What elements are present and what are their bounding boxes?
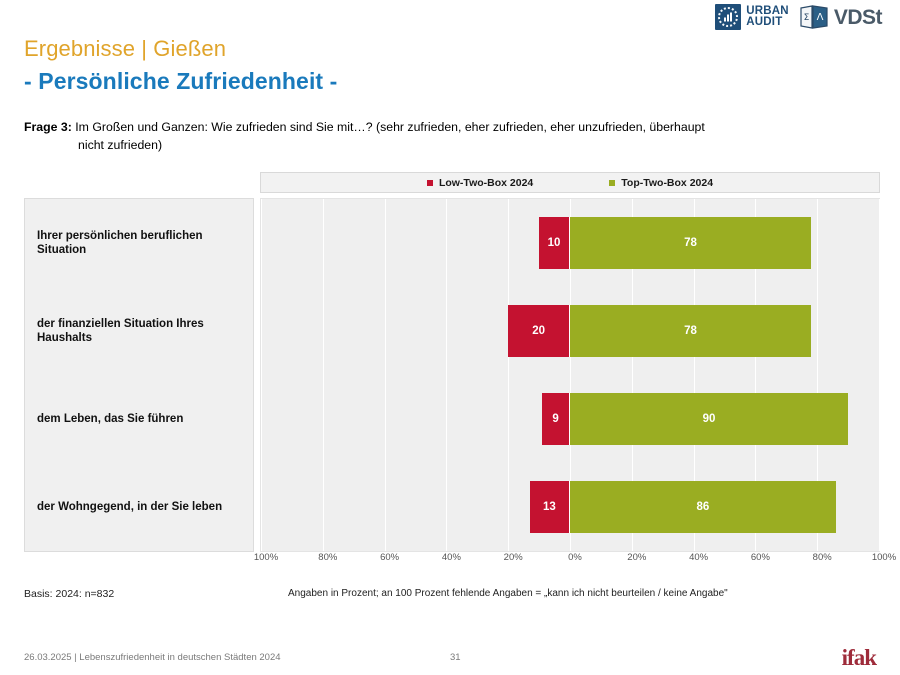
axis-tick-label: 80%	[318, 552, 337, 563]
axis-tick-label: 60%	[380, 552, 399, 563]
axis-tick-label: 20%	[504, 552, 523, 563]
question-label: Frage 3:	[24, 120, 72, 134]
category-label-3: der Wohngegend, in der Sie leben	[25, 463, 253, 551]
legend-label-top: Top-Two-Box 2024	[621, 177, 713, 189]
axis-tick-label: 0%	[568, 552, 582, 563]
eu-stars-chart-icon	[715, 4, 741, 30]
legend-swatch-top	[609, 180, 615, 186]
slide-main-title: - Persönliche Zufriedenheit -	[24, 68, 337, 95]
bar-top-two-box: 78	[570, 217, 811, 269]
axis-tick-label: 100%	[254, 552, 278, 563]
footer-source: 26.03.2025 | Lebenszufriedenheit in deut…	[24, 652, 281, 663]
legend-label-low: Low-Two-Box 2024	[439, 177, 533, 189]
bar-row: 1078	[261, 199, 879, 287]
axis-tick-label: 80%	[813, 552, 832, 563]
axis-tick-label: 40%	[442, 552, 461, 563]
bar-row: 2078	[261, 287, 879, 375]
ifak-logo: ifak	[842, 645, 876, 671]
bar-top-two-box: 78	[570, 305, 811, 357]
plot-wrapper: Ihrer persönlichen beruflichen Situation…	[24, 198, 880, 552]
question-text: Im Großen und Ganzen: Wie zufrieden sind…	[72, 120, 705, 134]
bar-row: 1386	[261, 463, 879, 551]
svg-text:Λ: Λ	[816, 12, 823, 23]
legend-item-top-two-box: Top-Two-Box 2024	[609, 177, 713, 189]
bar-top-two-box: 86	[570, 481, 836, 533]
urban-audit-logo: URBAN AUDIT	[715, 4, 789, 30]
category-label-1: der finanziellen Situation Ihres Haushal…	[25, 287, 253, 375]
vdst-cube-icon: Σ Λ	[799, 4, 829, 30]
axis-tick-label: 40%	[689, 552, 708, 563]
category-label-0: Ihrer persönlichen beruflichen Situation	[25, 199, 253, 287]
legend-swatch-low	[427, 180, 433, 186]
svg-text:Σ: Σ	[803, 13, 809, 23]
bar-low-two-box: 10	[539, 217, 570, 269]
chart-legend: Low-Two-Box 2024 Top-Two-Box 2024	[260, 172, 880, 193]
axis-tick-label: 20%	[627, 552, 646, 563]
gridline	[879, 199, 880, 551]
vdst-logo: Σ Λ VDSt	[799, 4, 882, 30]
bar-row: 990	[261, 375, 879, 463]
axis-tick-label: 100%	[872, 552, 896, 563]
slide-kicker-title: Ergebnisse | Gießen	[24, 36, 226, 62]
percent-footnote: Angaben in Prozent; an 100 Prozent fehle…	[288, 588, 728, 599]
legend-item-low-two-box: Low-Two-Box 2024	[427, 177, 533, 189]
x-axis: 100%80%60%40%20%0%20%40%60%80%100%	[260, 552, 880, 570]
bar-low-two-box: 9	[542, 393, 570, 445]
question-block: Frage 3: Im Großen und Ganzen: Wie zufri…	[24, 118, 880, 154]
question-text-line2: nicht zufrieden)	[24, 136, 880, 154]
urban-audit-wordmark: URBAN AUDIT	[746, 6, 789, 28]
bar-low-two-box: 13	[530, 481, 570, 533]
bar-top-two-box: 90	[570, 393, 848, 445]
category-labels-column: Ihrer persönlichen beruflichen Situation…	[24, 198, 254, 552]
bar-low-two-box: 20	[508, 305, 570, 357]
page-number: 31	[450, 652, 461, 663]
chart: Low-Two-Box 2024 Top-Two-Box 2024 Ihrer …	[24, 172, 880, 570]
basis-note: Basis: 2024: n=832	[24, 588, 114, 600]
category-label-2: dem Leben, das Sie führen	[25, 375, 253, 463]
plot-area: 107820789901386	[260, 198, 880, 552]
vdst-wordmark: VDSt	[834, 7, 882, 28]
axis-tick-label: 60%	[751, 552, 770, 563]
header-logos: URBAN AUDIT Σ Λ VDSt	[715, 4, 882, 30]
